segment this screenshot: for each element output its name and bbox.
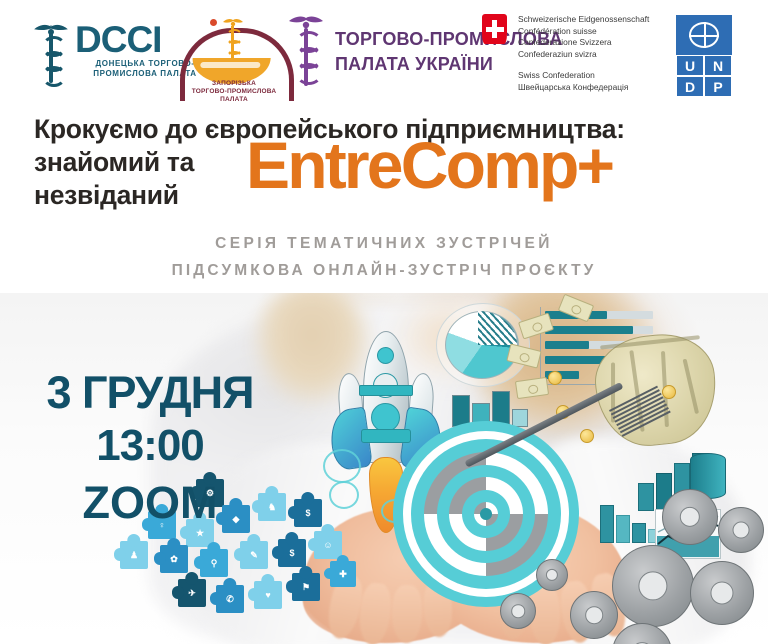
swiss-line-en: Swiss Confederation [518, 70, 649, 82]
zaporizhia-cci-logo: ЗАПОРІЗЬКА ТОРГОВО-ПРОМИСЛОВА ПАЛАТА [178, 18, 288, 94]
undp-letter-d: D [677, 77, 703, 96]
undp-letter-u: U [677, 56, 703, 75]
headline-line2: знайомий та [34, 146, 252, 179]
entrecomp-brand-title: EntreComp+ [246, 134, 612, 196]
headline-row: знайомий та незвіданий EntreComp+ [34, 146, 746, 212]
puzzle-piece-icon: ♥ [254, 581, 282, 609]
un-emblem-icon [676, 15, 732, 55]
poster: DCCI ДОНЕЦЬКА ТОРГОВО- ПРОМИСЛОВА ПАЛАТА… [0, 0, 768, 644]
undp-logo: U N D P [676, 15, 732, 95]
puzzle-piece-icon: ✎ [240, 541, 268, 569]
puzzle-piece-icon: ⚙ [196, 479, 224, 507]
undp-letter-n: N [705, 56, 731, 75]
caduceus-icon [288, 16, 324, 88]
swiss-text-block: Schweizerische Eidgenossenschaft Confédé… [518, 14, 649, 94]
swiss-flag-icon [482, 14, 507, 44]
swiss-line-fr: Confédération suisse [518, 26, 649, 38]
undp-letter-grid: U N D P [676, 55, 732, 97]
puzzle-piece-icon: ✆ [216, 585, 244, 613]
puzzle-piece-icon: ✈ [178, 579, 206, 607]
coin-icon [548, 371, 562, 385]
event-time: 13:00 [0, 418, 300, 474]
gear-icon [612, 545, 694, 627]
puzzle-piece-icon: $ [278, 539, 306, 567]
headline-block: Крокуємо до європейського підприємництва… [34, 113, 746, 212]
puzzle-piece-icon: ♞ [258, 493, 286, 521]
coin-icon [580, 429, 594, 443]
puzzle-piece-icon: ✿ [160, 545, 188, 573]
subtitle-line1: СЕРІЯ ТЕМАТИЧНИХ ЗУСТРІЧЕЙ [0, 235, 768, 253]
partner-logo-bar: DCCI ДОНЕЦЬКА ТОРГОВО- ПРОМИСЛОВА ПАЛАТА… [0, 0, 768, 108]
gear-icon [612, 623, 672, 644]
gear-icon [570, 591, 618, 639]
banknote-icon [515, 377, 549, 399]
gear-icon [690, 561, 754, 625]
puzzle-piece-icon: $ [294, 499, 322, 527]
swiss-line-uk: Швейцарська Конфедерація [518, 82, 649, 94]
event-date: 3 ГРУДНЯ [0, 368, 300, 418]
headline-left-col: знайомий та незвіданий [34, 146, 252, 212]
spacer [518, 60, 649, 70]
gear-icon [662, 489, 718, 545]
swiss-line-it: Confederazione Svizzera [518, 37, 649, 49]
puzzle-piece-icon: ⚑ [292, 573, 320, 601]
zaporizhia-line2: ТОРГОВО-ПРОМИСЛОВА ПАЛАТА [178, 88, 290, 104]
puzzle-piece-icon: ★ [186, 519, 214, 547]
subtitle-line2: ПІДСУМКОВА ОНЛАЙН-ЗУСТРІЧ ПРОЄКТУ [0, 262, 768, 280]
swiss-confederation-logo: Schweizerische Eidgenossenschaft Confédé… [482, 14, 649, 94]
headline-line3: незвіданий [34, 179, 252, 212]
caduceus-icon [34, 22, 68, 84]
puzzle-piece-icon: ◆ [222, 505, 250, 533]
swiss-line-rm: Confederaziun svizra [518, 49, 649, 61]
undp-letter-p: P [705, 77, 731, 96]
event-details-block: 3 ГРУДНЯ 13:00 ZOOM [0, 368, 300, 532]
swiss-line-de: Schweizerische Eidgenossenschaft [518, 14, 649, 26]
puzzle-piece-icon: ⚲ [200, 549, 228, 577]
puzzle-piece-icon: ♟ [120, 541, 148, 569]
puzzle-piece-icon: ♀ [148, 511, 176, 539]
puzzle-piece-icon: ✚ [330, 561, 356, 587]
gear-icon [718, 507, 764, 553]
gear-icon [536, 559, 568, 591]
zaporizhia-line1: ЗАПОРІЗЬКА [178, 80, 290, 88]
gear-icon [500, 593, 536, 629]
puzzle-piece-icon: ☺ [314, 531, 342, 559]
